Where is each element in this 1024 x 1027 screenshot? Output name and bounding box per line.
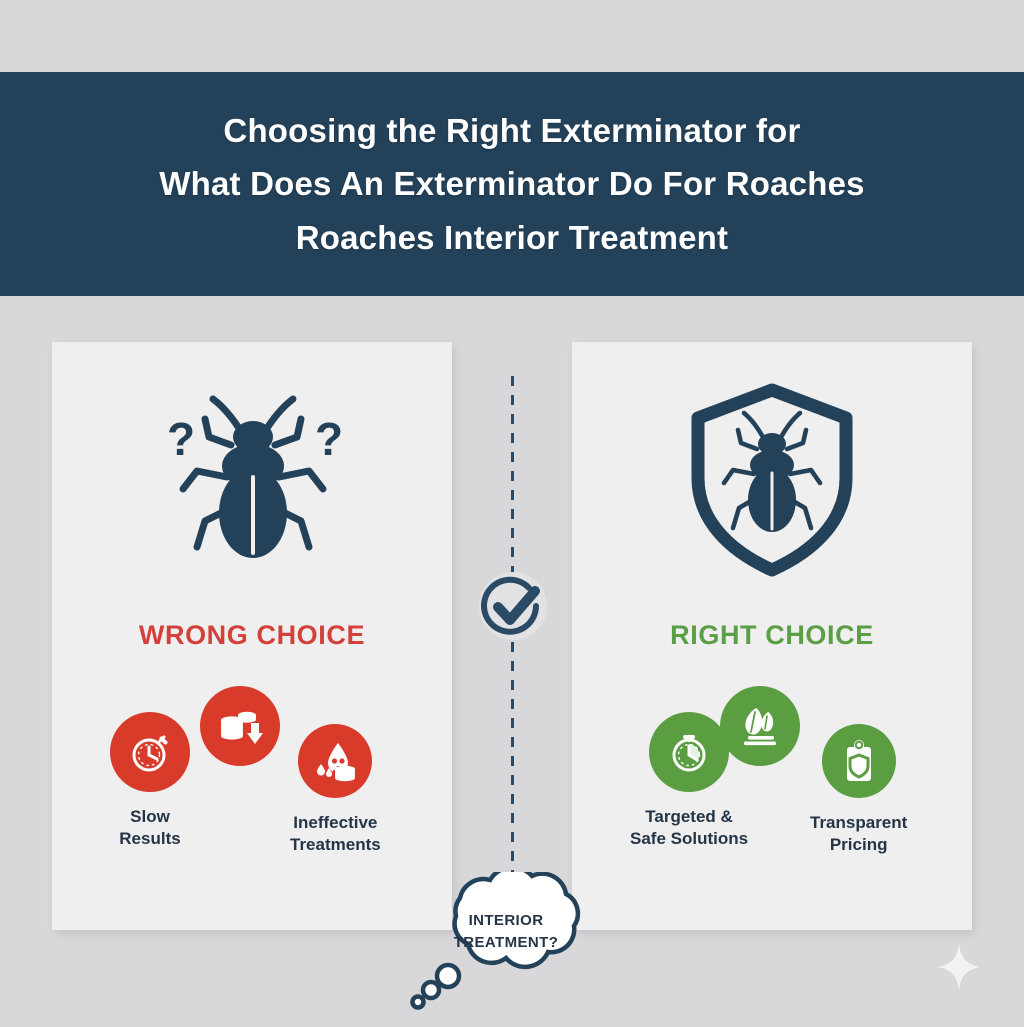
feature-badge-transparent-pricing	[822, 724, 896, 798]
feature-transparent-pricing[interactable]: Transparent Pricing	[810, 724, 907, 857]
roach-with-question-marks-icon: ? ?	[147, 385, 357, 575]
features-right: Targeted & Safe Solutions	[572, 694, 972, 904]
feature-eco-safe[interactable]	[720, 686, 800, 766]
panel-divider-dashed-line	[511, 376, 514, 910]
feature-ineffective-treatments[interactable]: Ineffective Treatments	[290, 724, 381, 857]
svg-text:?: ?	[315, 413, 343, 465]
feature-badge-targeted-safe	[649, 712, 729, 792]
shield-with-roach-icon	[672, 382, 872, 578]
feature-wasted-money[interactable]	[200, 686, 280, 766]
checkmark-in-circle-icon	[479, 572, 547, 640]
svg-text:?: ?	[167, 413, 195, 465]
feature-badge-eco-safe	[720, 686, 800, 766]
features-wrong: Slow Results	[52, 694, 452, 904]
feature-badge-ineffective-treatments	[298, 724, 372, 798]
sparkle-icon	[936, 942, 982, 992]
hero-icon-wrap-left: ? ?	[52, 372, 452, 587]
feature-label-targeted-safe: Targeted & Safe Solutions	[630, 806, 748, 851]
feature-label-slow-results: Slow Results	[119, 806, 180, 851]
eco-leaf-icon	[736, 702, 784, 750]
page-title-line-2: What Does An Exterminator Do For Roaches	[159, 157, 864, 210]
hero-icon-wrap-right	[572, 372, 972, 587]
page-title-line-3: Roaches Interior Treatment	[159, 211, 864, 264]
thought-bubble: INTERIOR TREATMENT?	[400, 872, 612, 1022]
header-band: Choosing the Right Exterminator for What…	[0, 72, 1024, 296]
feature-label-ineffective-treatments: Ineffective Treatments	[290, 812, 381, 857]
thought-bubble-icon	[400, 872, 612, 1022]
sparkle-diamond-icon	[936, 942, 982, 992]
feature-badge-slow-results	[110, 712, 190, 792]
panel-wrong-choice: ? ? WRONG CHOICE Slow Results	[52, 342, 452, 930]
check-circle-icon	[479, 572, 547, 640]
panel-heading-right: RIGHT CHOICE	[572, 620, 972, 651]
feature-slow-results[interactable]: Slow Results	[110, 712, 190, 851]
stopwatch-icon	[126, 728, 174, 776]
feature-label-transparent-pricing: Transparent Pricing	[810, 812, 907, 857]
panel-heading-wrong: WRONG CHOICE	[52, 620, 452, 651]
toxic-chemical-skull-icon	[312, 738, 358, 784]
money-down-arrow-icon	[215, 701, 265, 751]
feature-badge-wasted-money	[200, 686, 280, 766]
page-title-line-1: Choosing the Right Exterminator for	[159, 104, 864, 157]
page-title: Choosing the Right Exterminator for What…	[119, 104, 904, 264]
price-tag-shield-icon	[837, 738, 881, 784]
panel-right-choice: RIGHT CHOICE Targeted & Safe Solutio	[572, 342, 972, 930]
stopwatch-icon	[665, 728, 713, 776]
